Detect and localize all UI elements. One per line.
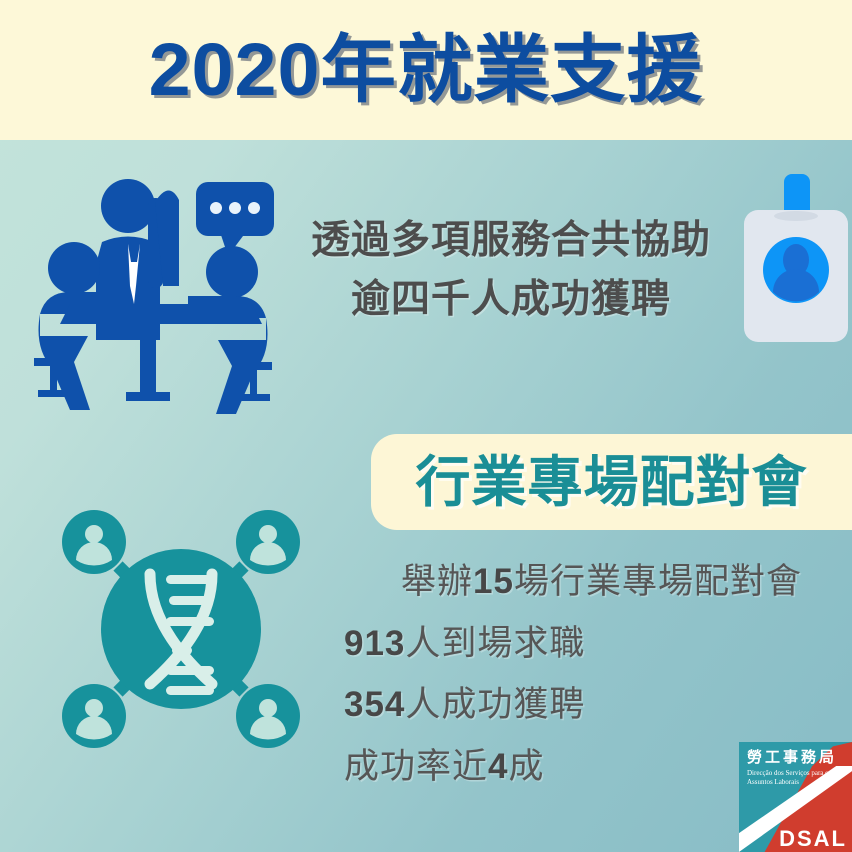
stat-row: 成功率近4成 — [330, 741, 810, 794]
stat-prefix: 成功率近 — [344, 747, 488, 786]
stat-value: 15 — [473, 562, 514, 601]
stat-prefix: 舉辦 — [401, 562, 473, 601]
stat-suffix: 成 — [508, 747, 544, 786]
id-badge-icon — [744, 172, 848, 342]
stat-suffix: 人到場求職 — [405, 624, 585, 663]
lead-line-2: 逾四千人成功獲聘 — [276, 271, 746, 330]
stat-row: 354人成功獲聘 — [330, 679, 810, 732]
dsal-logo: 勞工事務局 Direcção dos Serviços para os Assu… — [739, 742, 852, 852]
logo-abbreviation: DSAL — [779, 828, 847, 850]
logo-portuguese-name: Direcção dos Serviços para os Assuntos L… — [747, 769, 845, 788]
section-banner: 行業專場配對會 — [371, 434, 852, 530]
poster-canvas: 2020年就業支援 — [0, 0, 852, 852]
lead-line-1: 透過多項服務合共協助 — [276, 212, 746, 271]
lead-description: 透過多項服務合共協助 逾四千人成功獲聘 — [276, 212, 746, 329]
stat-suffix: 場行業專場配對會 — [514, 562, 802, 601]
network-matching-icon — [26, 474, 336, 784]
banner-label: 行業專場配對會 — [415, 455, 807, 510]
job-interview-icon — [24, 158, 292, 426]
logo-chinese-name: 勞工事務局 — [747, 750, 847, 765]
stat-value: 354 — [344, 685, 405, 724]
stat-value: 4 — [488, 747, 508, 786]
stat-row: 913人到場求職 — [330, 618, 810, 671]
stat-suffix: 人成功獲聘 — [405, 685, 585, 724]
page-title: 2020年就業支援 — [149, 33, 703, 107]
stat-value: 913 — [344, 624, 405, 663]
stats-list: 舉辦15場行業專場配對會 913人到場求職 354人成功獲聘 成功率近4成 — [330, 556, 810, 802]
header-band: 2020年就業支援 — [0, 0, 852, 140]
stat-row: 舉辦15場行業專場配對會 — [330, 556, 810, 609]
